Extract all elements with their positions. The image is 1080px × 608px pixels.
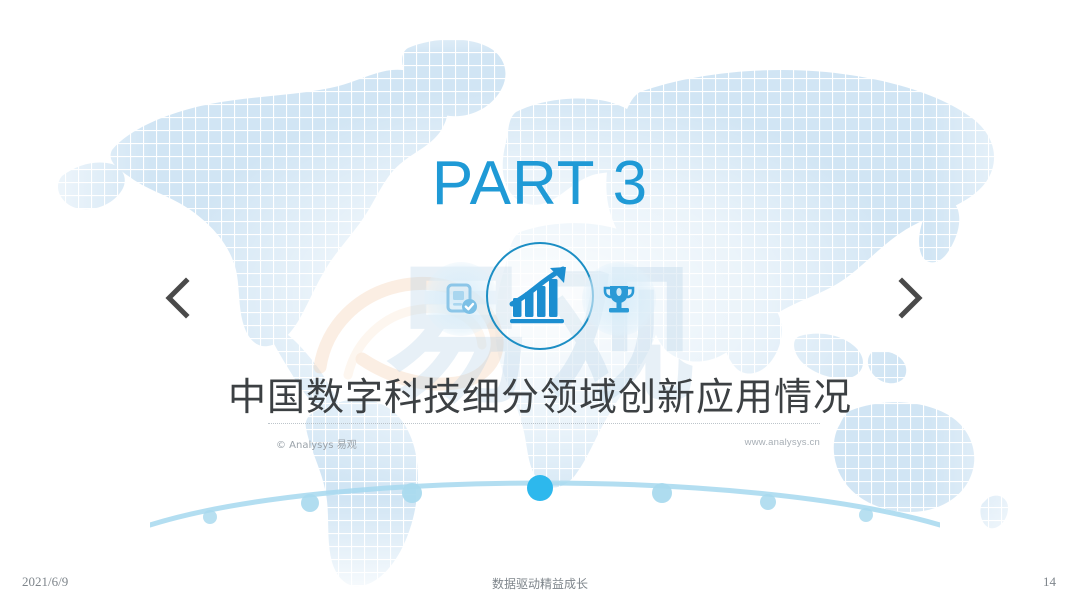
progress-dot[interactable]	[527, 475, 553, 501]
footer-tagline: 数据驱动精益成长	[0, 575, 1080, 592]
progress-arc	[150, 455, 940, 545]
footer-bar: 2021/6/9 数据驱动精益成长 14	[0, 570, 1080, 600]
prev-slide-arrow-icon[interactable]	[148, 268, 208, 328]
slide-canvas: 易观 PART 3	[0, 0, 1080, 608]
trophy-icon	[582, 262, 656, 336]
progress-dot[interactable]	[760, 494, 776, 510]
section-subtitle: 中国数字科技细分领域创新应用情况	[0, 366, 1080, 421]
page-number: 14	[1043, 574, 1056, 590]
icon-cluster	[400, 240, 680, 360]
title-divider	[268, 423, 820, 425]
progress-dot[interactable]	[203, 510, 217, 524]
progress-dot[interactable]	[301, 494, 319, 512]
bar-chart-growth-icon	[486, 242, 594, 350]
website-link[interactable]: www.analysys.cn	[745, 437, 820, 448]
progress-dot[interactable]	[859, 508, 873, 522]
progress-dot[interactable]	[652, 483, 672, 503]
copyright-label: © Analysys 易观	[276, 436, 357, 451]
next-slide-arrow-icon[interactable]	[880, 268, 940, 328]
credit-row: © Analysys 易观 www.analysys.cn	[268, 436, 820, 452]
page-title: PART 3	[0, 148, 1080, 219]
progress-dot[interactable]	[402, 483, 422, 503]
